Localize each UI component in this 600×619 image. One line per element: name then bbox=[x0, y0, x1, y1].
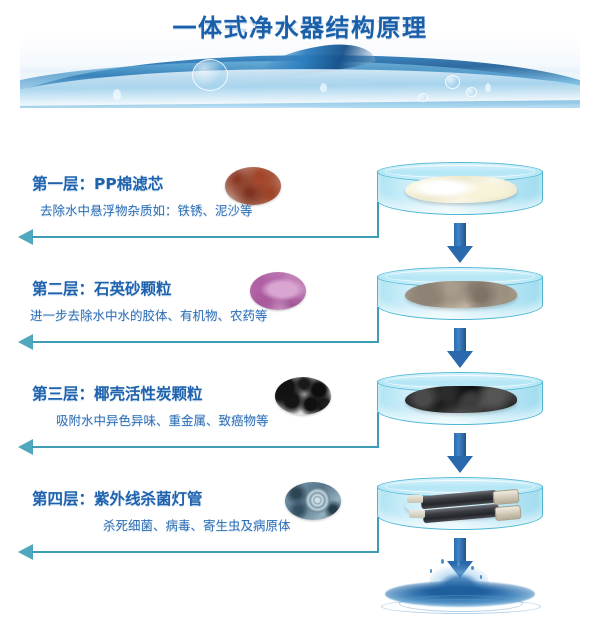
filter-vessel-1 bbox=[377, 162, 543, 224]
uv-lamp-nozzle-lower bbox=[409, 510, 425, 518]
connector-horizontal-line bbox=[32, 446, 379, 448]
water-ripple bbox=[381, 599, 541, 614]
arrow-shaft bbox=[454, 223, 466, 247]
layer-3-description: 吸附水中异色异味、重金属、致癌物等 bbox=[56, 410, 269, 429]
left-arrow-connector bbox=[18, 535, 383, 569]
arrow-head-down-icon bbox=[447, 456, 473, 473]
header-banner: 一体式净水器结构原理 一体式净水器结构原理 bbox=[0, 0, 600, 122]
droplet-icon bbox=[485, 83, 491, 92]
splash-droplet bbox=[480, 575, 482, 579]
layer-3-title: 第三层：椰壳活性炭颗粒 bbox=[32, 382, 203, 404]
layer-row: 第二层：石英砂颗粒 进一步去除水中水的胶体、有机物、农药等 bbox=[0, 267, 600, 373]
layer-2-description: 进一步去除水中水的胶体、有机物、农药等 bbox=[30, 305, 268, 324]
bubble-small-icon bbox=[418, 93, 428, 102]
splash-droplet bbox=[471, 566, 474, 570]
left-arrow-connector bbox=[18, 430, 383, 464]
flow-down-arrow-1 bbox=[447, 223, 473, 263]
left-arrow-connector bbox=[18, 220, 383, 254]
droplet-icon bbox=[320, 83, 327, 92]
connector-horizontal-line bbox=[32, 341, 379, 343]
filter-vessel-4 bbox=[377, 477, 543, 539]
arrow-head-down-icon bbox=[447, 351, 473, 368]
uv-lamp-cap-upper bbox=[492, 489, 519, 505]
flow-down-arrow-3 bbox=[447, 433, 473, 473]
arrow-head-left-icon bbox=[18, 439, 33, 455]
bubble-small-icon bbox=[445, 75, 460, 89]
layer-row: 第三层：椰壳活性炭颗粒 吸附水中异色异味、重金属、致癌物等 bbox=[0, 372, 600, 478]
uv-lamp-cap-lower bbox=[494, 505, 521, 521]
layer-1-description: 去除水中悬浮物杂质如：铁锈、泥沙等 bbox=[40, 200, 253, 219]
layer-4-title: 第四层：紫外线杀菌灯管 bbox=[32, 487, 203, 509]
water-wave-banner-image bbox=[20, 39, 580, 108]
left-arrow-connector bbox=[18, 325, 383, 359]
filter-vessel-3 bbox=[377, 372, 543, 434]
connector-horizontal-line bbox=[32, 236, 379, 238]
arrow-shaft bbox=[454, 328, 466, 352]
bubble-large-icon bbox=[192, 59, 228, 91]
page-title: 一体式净水器结构原理 bbox=[0, 8, 600, 43]
arrow-head-left-icon bbox=[18, 334, 33, 350]
arrow-head-left-icon bbox=[18, 544, 33, 560]
splash-droplet bbox=[430, 569, 432, 573]
layer-row: 第一层：PP棉滤芯 去除水中悬浮物杂质如：铁锈、泥沙等 bbox=[0, 162, 600, 268]
flow-down-arrow-2 bbox=[447, 328, 473, 368]
splash-droplet bbox=[441, 559, 444, 564]
activated-carbon-pores-thumbnail bbox=[275, 377, 331, 415]
purified-water-splash bbox=[375, 559, 545, 615]
layer-4-description: 杀死细菌、病毒、寄生虫及病原体 bbox=[103, 515, 291, 534]
connector-horizontal-line bbox=[32, 551, 379, 553]
arrow-shaft bbox=[454, 433, 466, 457]
droplet-icon bbox=[113, 89, 121, 100]
bacteria-microscope-thumbnail bbox=[285, 482, 341, 520]
bubble-small-icon bbox=[466, 87, 477, 97]
layer-1-title: 第一层：PP棉滤芯 bbox=[32, 172, 163, 194]
splash-droplet bbox=[457, 561, 460, 567]
layer-2-title: 第二层：石英砂颗粒 bbox=[32, 277, 172, 299]
uv-lamp-nozzle-upper bbox=[407, 495, 423, 503]
arrow-head-down-icon bbox=[447, 246, 473, 263]
uv-sterilizer-lamp-media bbox=[405, 491, 517, 518]
filter-vessel-2 bbox=[377, 267, 543, 329]
purifier-structure-diagram: 第一层：PP棉滤芯 去除水中悬浮物杂质如：铁锈、泥沙等 第二层：石英砂颗粒 进一… bbox=[0, 122, 600, 619]
quartz-sand-media bbox=[405, 281, 517, 308]
pp-cotton-filter-media bbox=[405, 176, 517, 203]
arrow-head-left-icon bbox=[18, 229, 33, 245]
activated-carbon-media bbox=[405, 386, 517, 413]
